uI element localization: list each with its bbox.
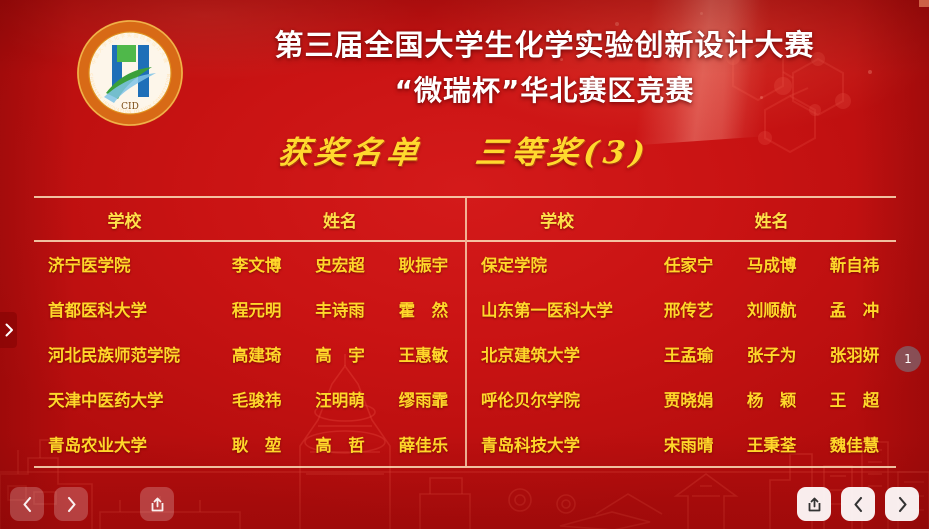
cell-names: 任家宁 马成博 靳自祎 — [647, 252, 896, 276]
title-main: 第三届全国大学生化学实验创新设计大赛 — [190, 26, 899, 64]
share-button[interactable] — [140, 487, 174, 521]
table-body-right: 保定学院 任家宁 马成博 靳自祎 山东第一医科大学 邢传艺 刘顺航 孟 冲 — [467, 242, 896, 466]
winner-name: 贾晓娟 — [647, 387, 730, 411]
winner-name: 程元明 — [215, 297, 298, 321]
table-header-row-left: 学校 姓名 — [34, 198, 465, 242]
winner-name: 毛骏祎 — [215, 387, 298, 411]
winners-tables: 学校 姓名 济宁医学院 李文博 史宏超 耿振宇 首都医科大学 程元明 丰 — [34, 196, 896, 468]
winners-table-right: 学校 姓名 保定学院 任家宁 马成博 靳自祎 山东第一医科大学 邢传艺 — [465, 198, 896, 466]
viewer-controls-right — [797, 487, 919, 521]
winner-name: 张羽妍 — [813, 342, 896, 366]
cell-school: 首都医科大学 — [34, 297, 215, 321]
winner-name: 李文博 — [215, 252, 298, 276]
chevron-right-icon — [896, 496, 909, 513]
cell-names: 宋雨晴 王秉荃 魏佳慧 — [647, 432, 896, 456]
column-header-name: 姓名 — [647, 207, 896, 232]
column-header-name: 姓名 — [215, 207, 465, 232]
corner-marker — [919, 0, 929, 7]
table-row: 天津中医药大学 毛骏祎 汪明萌 缪雨霏 — [34, 376, 465, 421]
winner-name: 高 宇 — [298, 342, 381, 366]
slide-header: CID 中国大学生化学实验创新设计大赛 CHEMISTRY INNOVATION… — [0, 0, 929, 185]
cell-names: 毛骏祎 汪明萌 缪雨霏 — [215, 387, 465, 411]
cell-school: 河北民族师范学院 — [34, 342, 215, 366]
winner-name: 丰诗雨 — [298, 297, 381, 321]
column-header-school: 学校 — [34, 207, 215, 232]
edge-next-button[interactable] — [0, 312, 17, 348]
competition-emblem-logo: CID 中国大学生化学实验创新设计大赛 CHEMISTRY INNOVATION… — [76, 19, 184, 127]
cell-names: 高建琦 高 宇 王惠敏 — [215, 342, 465, 366]
table-row: 山东第一医科大学 邢传艺 刘顺航 孟 冲 — [467, 287, 896, 332]
table-row: 首都医科大学 程元明 丰诗雨 霍 然 — [34, 287, 465, 332]
cell-names: 邢传艺 刘顺航 孟 冲 — [647, 297, 896, 321]
cell-school: 北京建筑大学 — [467, 342, 647, 366]
chevron-right-icon — [4, 323, 14, 337]
table-row: 河北民族师范学院 高建琦 高 宇 王惠敏 — [34, 332, 465, 377]
cell-names: 王孟瑜 张子为 张羽妍 — [647, 342, 896, 366]
table-row: 北京建筑大学 王孟瑜 张子为 张羽妍 — [467, 332, 896, 377]
cell-names: 程元明 丰诗雨 霍 然 — [215, 297, 465, 321]
chevron-right-icon — [65, 496, 78, 513]
winner-name: 王秉荃 — [730, 432, 813, 456]
award-label: 获奖名单 — [277, 127, 427, 172]
cell-school: 山东第一医科大学 — [467, 297, 647, 321]
winner-name: 靳自祎 — [813, 252, 896, 276]
table-body-left: 济宁医学院 李文博 史宏超 耿振宇 首都医科大学 程元明 丰诗雨 霍 然 — [34, 242, 465, 466]
title-sub: “微瑞杯”华北赛区竞赛 — [190, 72, 899, 110]
share-button[interactable] — [797, 487, 831, 521]
chevron-left-icon — [852, 496, 865, 513]
prev-page-button[interactable] — [10, 487, 44, 521]
slide-viewer: CID 中国大学生化学实验创新设计大赛 CHEMISTRY INNOVATION… — [0, 0, 929, 529]
table-row: 青岛农业大学 耿 堃 高 哲 薛佳乐 — [34, 421, 465, 466]
title-block: 第三届全国大学生化学实验创新设计大赛 “微瑞杯”华北赛区竞赛 — [190, 26, 899, 110]
winner-name: 耿 堃 — [215, 432, 298, 456]
page-badge: 1 — [895, 346, 921, 372]
winner-name: 任家宁 — [647, 252, 730, 276]
cell-school: 天津中医药大学 — [34, 387, 215, 411]
award-level: 三等奖(3) — [473, 127, 652, 172]
winner-name: 王 超 — [813, 387, 896, 411]
winner-name: 张子为 — [730, 342, 813, 366]
winner-name: 邢传艺 — [647, 297, 730, 321]
share-icon — [149, 496, 166, 513]
cell-school: 呼伦贝尔学院 — [467, 387, 647, 411]
cell-school: 济宁医学院 — [34, 252, 215, 276]
winner-name: 耿振宇 — [382, 252, 465, 276]
winner-name: 缪雨霏 — [382, 387, 465, 411]
cell-names: 李文博 史宏超 耿振宇 — [215, 252, 465, 276]
next-page-button[interactable] — [54, 487, 88, 521]
next-page-button[interactable] — [885, 487, 919, 521]
cell-school: 青岛科技大学 — [467, 432, 647, 456]
winner-name: 高建琦 — [215, 342, 298, 366]
winner-name: 高 哲 — [298, 432, 381, 456]
cell-school: 青岛农业大学 — [34, 432, 215, 456]
prev-page-button[interactable] — [841, 487, 875, 521]
cell-school: 保定学院 — [467, 252, 647, 276]
winner-name: 王孟瑜 — [647, 342, 730, 366]
column-header-school: 学校 — [467, 207, 647, 232]
table-row: 保定学院 任家宁 马成博 靳自祎 — [467, 242, 896, 287]
winner-name: 史宏超 — [298, 252, 381, 276]
viewer-controls-left — [10, 487, 174, 521]
cell-names: 耿 堃 高 哲 薛佳乐 — [215, 432, 465, 456]
winner-name: 杨 颖 — [730, 387, 813, 411]
winner-name: 薛佳乐 — [382, 432, 465, 456]
winners-table-left: 学校 姓名 济宁医学院 李文博 史宏超 耿振宇 首都医科大学 程元明 丰 — [34, 198, 465, 466]
winner-name: 霍 然 — [382, 297, 465, 321]
winner-name: 马成博 — [730, 252, 813, 276]
winner-name: 汪明萌 — [298, 387, 381, 411]
share-icon — [806, 496, 823, 513]
table-header-row-right: 学校 姓名 — [467, 198, 896, 242]
winner-name: 孟 冲 — [813, 297, 896, 321]
award-heading: 获奖名单 三等奖(3) — [0, 127, 929, 172]
table-row: 呼伦贝尔学院 贾晓娟 杨 颖 王 超 — [467, 376, 896, 421]
winner-name: 宋雨晴 — [647, 432, 730, 456]
winner-name: 王惠敏 — [382, 342, 465, 366]
chevron-left-icon — [21, 496, 34, 513]
winner-name: 魏佳慧 — [813, 432, 896, 456]
table-row: 青岛科技大学 宋雨晴 王秉荃 魏佳慧 — [467, 421, 896, 466]
cell-names: 贾晓娟 杨 颖 王 超 — [647, 387, 896, 411]
winner-name: 刘顺航 — [730, 297, 813, 321]
table-row: 济宁医学院 李文博 史宏超 耿振宇 — [34, 242, 465, 287]
